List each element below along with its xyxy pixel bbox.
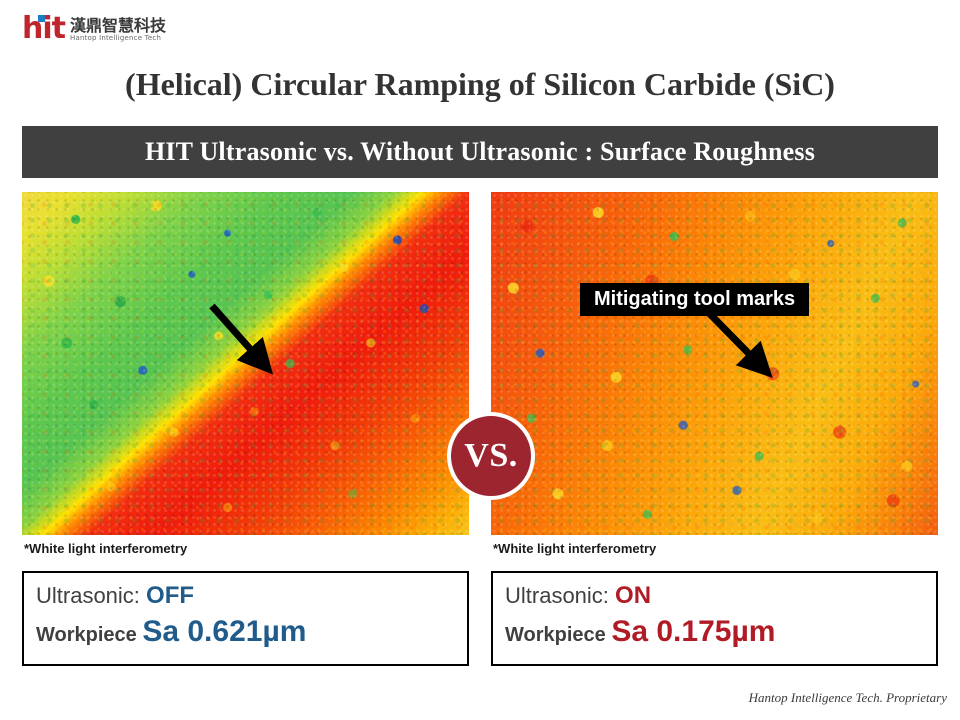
company-logo: hit 漢鼎智慧科技 Hantop Intelligence Tech [22, 10, 166, 44]
section-banner: HIT Ultrasonic vs. Without Ultrasonic : … [22, 126, 938, 178]
result-right-ultrasonic-line: Ultrasonic: ON [505, 581, 936, 611]
result-right-ultrasonic-value: ON [615, 582, 651, 609]
callout-mitigating-tool-marks: Mitigating tool marks [580, 283, 809, 316]
result-right-workpiece-line: Workpiece Sa 0.175µm [505, 611, 936, 656]
result-left-workpiece-label: Workpiece [36, 624, 137, 646]
logo-chinese-name: 漢鼎智慧科技 [70, 17, 166, 34]
result-left-workpiece-value: Sa 0.621µm [142, 615, 306, 648]
result-box-ultrasonic-on: Ultrasonic: ON Workpiece Sa 0.175µm [491, 571, 938, 666]
interferometry-image-ultrasonic-off [22, 192, 469, 535]
result-left-workpiece-line: Workpiece Sa 0.621µm [36, 611, 467, 656]
logo-name-block: 漢鼎智慧科技 Hantop Intelligence Tech [70, 17, 166, 44]
callout-label: Mitigating tool marks [594, 288, 795, 311]
footer-proprietary-note: Hantop Intelligence Tech. Proprietary [0, 690, 947, 706]
interferometry-image-ultrasonic-on [491, 192, 938, 535]
result-left-ultrasonic-value: OFF [146, 582, 194, 609]
result-left-ultrasonic-label: Ultrasonic: [36, 583, 140, 608]
result-left-ultrasonic-line: Ultrasonic: OFF [36, 581, 467, 611]
page-title: (Helical) Circular Ramping of Silicon Ca… [0, 64, 960, 104]
result-box-ultrasonic-off: Ultrasonic: OFF Workpiece Sa 0.621µm [22, 571, 469, 666]
logo-hit-wordmark: hit [22, 14, 70, 44]
logo-english-name: Hantop Intelligence Tech [70, 34, 166, 43]
caption-right: *White light interferometry [493, 541, 656, 556]
heatmap-grain2-left [22, 192, 469, 535]
result-right-workpiece-label: Workpiece [505, 624, 606, 646]
result-right-ultrasonic-label: Ultrasonic: [505, 583, 609, 608]
vs-badge: VS. [447, 412, 535, 500]
logo-i-dot [38, 15, 45, 22]
section-banner-text: HIT Ultrasonic vs. Without Ultrasonic : … [145, 137, 815, 167]
vs-badge-label: VS. [464, 439, 517, 473]
caption-left: *White light interferometry [24, 541, 187, 556]
heatmap-grain2-right [491, 192, 938, 535]
result-right-workpiece-value: Sa 0.175µm [611, 615, 775, 648]
